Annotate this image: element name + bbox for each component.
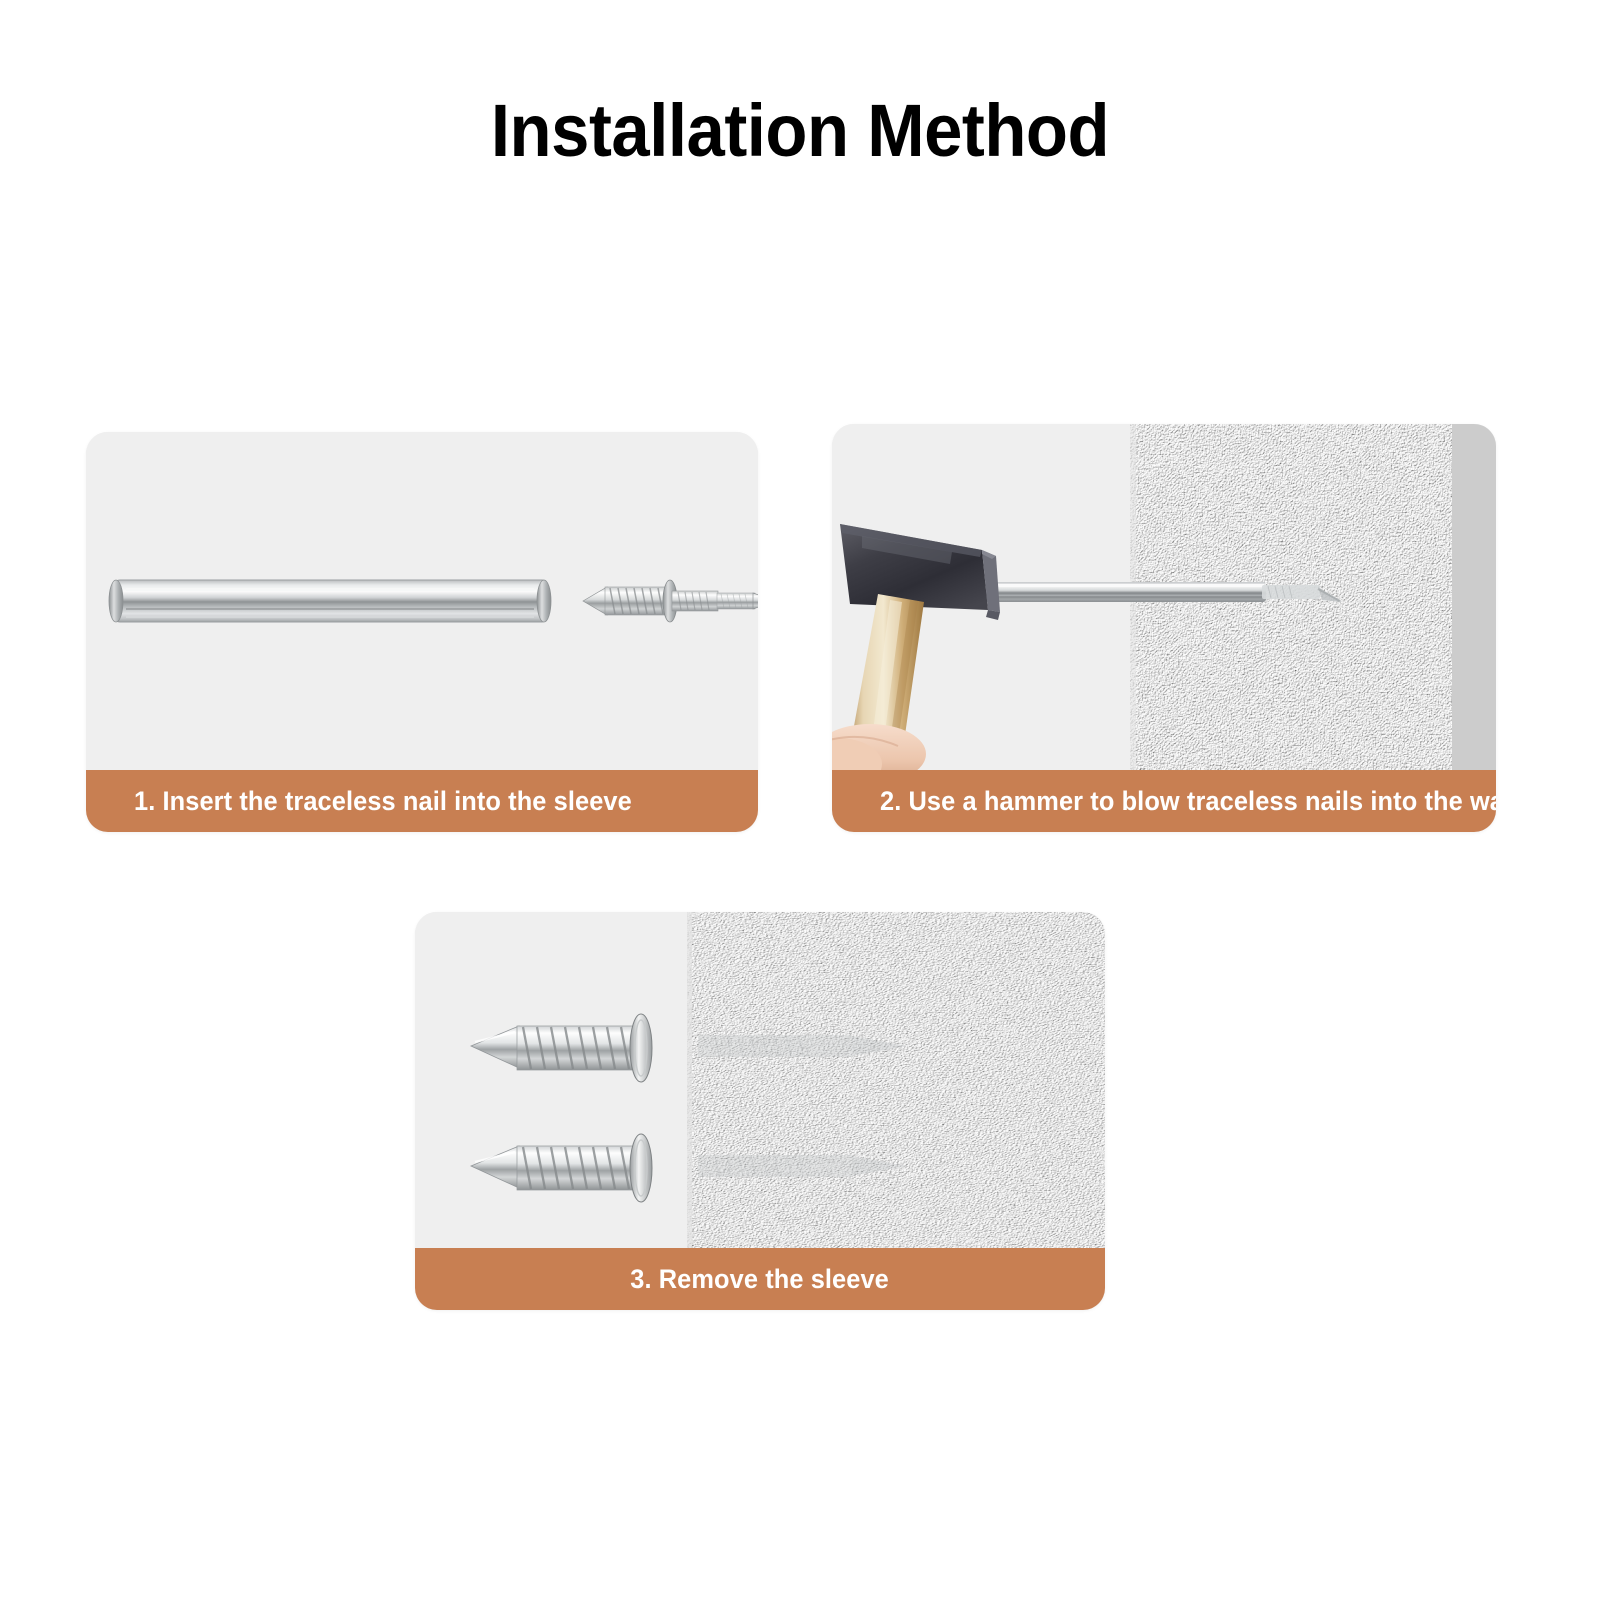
installation-method-page: Installation Method [0,0,1600,1600]
step-3-caption-bar: 3. Remove the sleeve [415,1248,1105,1310]
wall-edge-band [1452,424,1496,770]
step-3-caption-text: 3. Remove the sleeve [631,1264,890,1295]
step-2-image [832,424,1496,770]
hammer-striking-wall-illustration [832,424,1496,770]
sleeve-and-nail-illustration [86,432,758,770]
page-title: Installation Method [56,88,1544,173]
sleeve-tube-graphic [109,580,551,622]
step-card-2: 2. Use a hammer to blow traceless nails … [832,424,1496,832]
step-card-1: 1. Insert the traceless nail into the sl… [86,432,758,832]
step-2-caption-text: 2. Use a hammer to blow traceless nails … [880,786,1496,817]
nails-in-wall-illustration [415,912,1105,1248]
step-3-image [415,912,1105,1248]
step-1-caption-bar: 1. Insert the traceless nail into the sl… [86,770,758,832]
step-2-caption-bar: 2. Use a hammer to blow traceless nails … [832,770,1496,832]
step-1-caption-text: 1. Insert the traceless nail into the sl… [134,786,632,817]
step-card-3: 3. Remove the sleeve [415,912,1105,1310]
step-1-image [86,432,758,770]
textured-wall [687,912,1105,1248]
sleeve-rod-graphic [982,582,1342,602]
